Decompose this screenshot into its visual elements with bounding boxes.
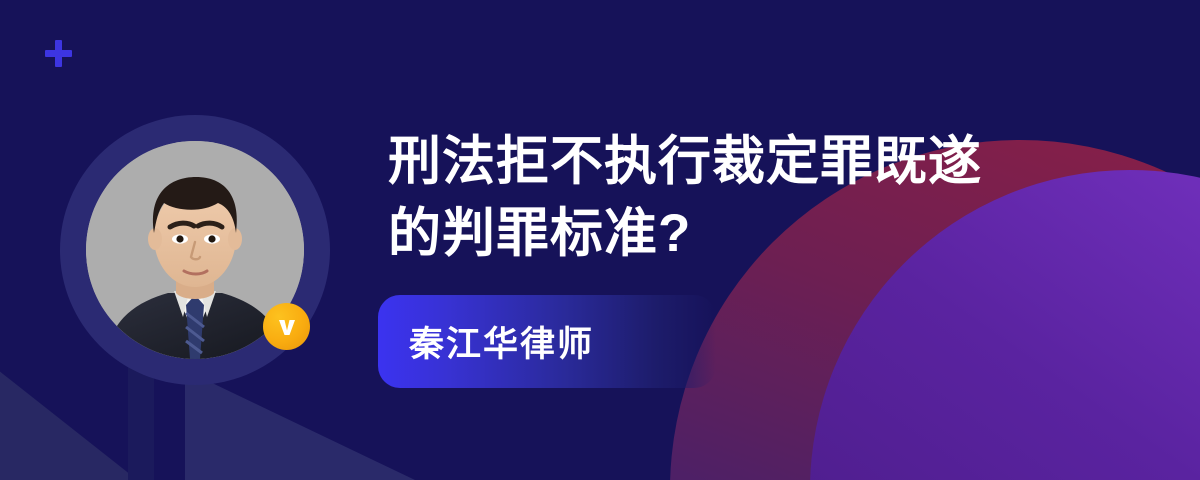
- plus-icon: [45, 40, 72, 67]
- lawyer-name-badge[interactable]: 秦江华律师: [378, 295, 716, 388]
- lawyer-name-label: 秦江华律师: [409, 316, 594, 367]
- wedge-mid-shape: [185, 370, 415, 480]
- page-title: 刑法拒不执行裁定罪既遂 的判罪标准?: [388, 126, 1128, 270]
- verified-badge-icon: [263, 303, 310, 350]
- avatar[interactable]: [60, 115, 330, 385]
- promo-banner: 刑法拒不执行裁定罪既遂 的判罪标准? 秦江华律师: [0, 0, 1200, 480]
